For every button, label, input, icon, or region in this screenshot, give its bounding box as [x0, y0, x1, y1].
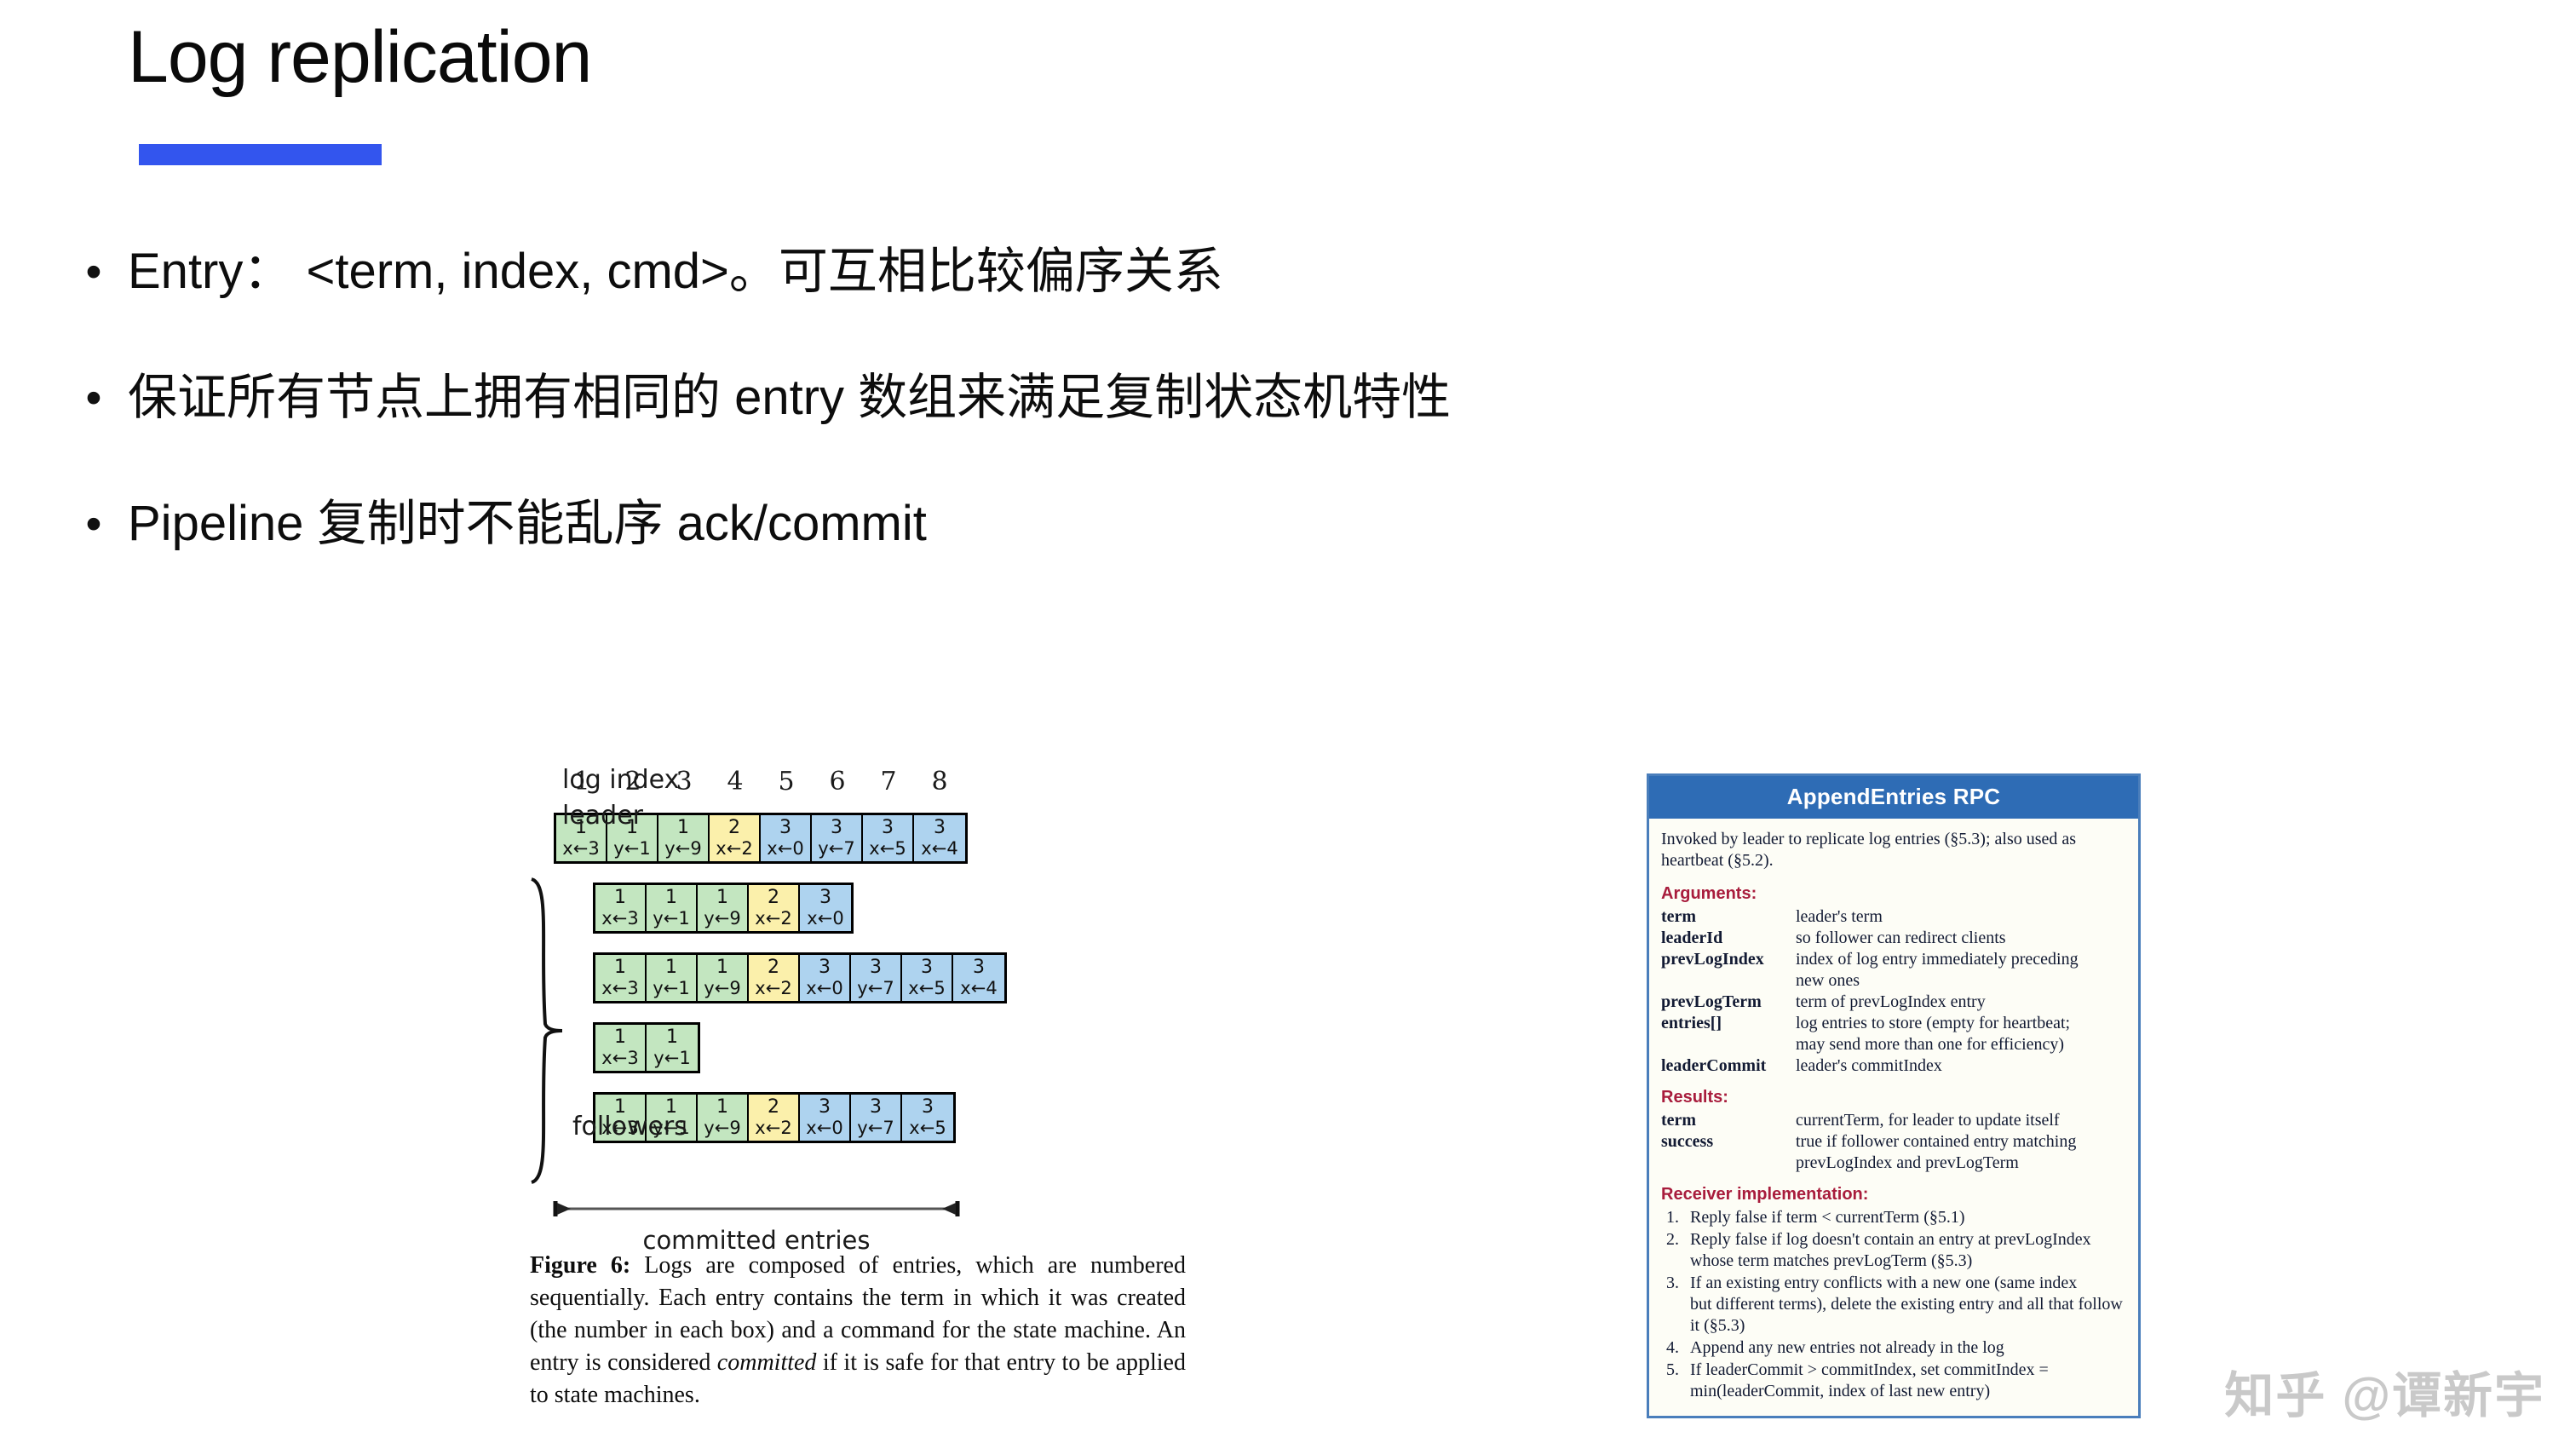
rpc-argument: entries[]log entries to store (empty for…: [1661, 1013, 2126, 1034]
log-entry-cell: 1y←1: [647, 1025, 698, 1071]
rpc-arguments-heading: Arguments:: [1661, 883, 2126, 905]
log-entry-command: x←0: [806, 1118, 842, 1138]
rpc-receiver-step: 4.Append any new entries not already in …: [1661, 1337, 2126, 1359]
log-index-number: 6: [819, 767, 855, 796]
rpc-receiver-step: 2.Reply false if log doesn't contain an …: [1661, 1229, 2126, 1251]
rpc-results-heading: Results:: [1661, 1087, 2126, 1108]
log-entry-cell: 1x←3: [595, 955, 647, 1001]
log-entry-command: y←1: [653, 908, 689, 929]
log-entry-command: y←1: [653, 1048, 690, 1068]
log-entry-cell: 3y←7: [851, 1095, 902, 1141]
rpc-argument-name: entries[]: [1661, 1013, 1796, 1034]
log-entry-command: y←7: [818, 838, 854, 859]
log-entry-command: x←4: [960, 978, 997, 998]
page-title: Log replication: [128, 15, 591, 100]
appendentries-rpc-card: AppendEntries RPC Invoked by leader to r…: [1647, 773, 2141, 1418]
log-entry-cell: 3x←5: [863, 815, 914, 861]
followers-label: followers: [572, 1112, 687, 1141]
log-entry-cell: 1y←1: [647, 955, 698, 1001]
bullet-marker-icon: •: [60, 365, 128, 431]
rpc-receiver-step-text: If an existing entry conflicts with a ne…: [1690, 1273, 2126, 1294]
rpc-argument: leaderIdso follower can redirect clients: [1661, 928, 2126, 949]
rpc-receiver-step-number: 3.: [1661, 1273, 1690, 1294]
rpc-result: successtrue if follower contained entry …: [1661, 1131, 2126, 1153]
log-entry-command: x←3: [601, 908, 638, 929]
log-entry-command: x←2: [755, 978, 791, 998]
log-entry-term: 2: [768, 888, 779, 908]
rpc-result-description-continued: prevLogIndex and prevLogTerm: [1796, 1153, 2126, 1174]
rpc-argument-name: leaderId: [1661, 928, 1796, 949]
rpc-argument-description: leader's commitIndex: [1796, 1055, 2126, 1077]
log-entry-term: 3: [819, 1097, 831, 1118]
log-entry-cell: 2x←2: [749, 955, 800, 1001]
rpc-receiver-list: 1.Reply false if term < currentTerm (§5.…: [1661, 1207, 2126, 1402]
log-entry-command: x←5: [908, 978, 945, 998]
rpc-argument: leaderCommitleader's commitIndex: [1661, 1055, 2126, 1077]
bullet-marker-icon: •: [60, 491, 128, 557]
log-entry-term: 3: [831, 818, 842, 838]
log-entry-term: 3: [921, 957, 933, 978]
rpc-card-title: AppendEntries RPC: [1649, 776, 2138, 819]
bullet-text: Pipeline 复制时不能乱序 ack/commit: [128, 491, 927, 557]
log-entry-command: x←5: [869, 838, 906, 859]
bullet-text: 保证所有节点上拥有相同的 entry 数组来满足复制状态机特性: [128, 365, 1451, 431]
rpc-card-body: Invoked by leader to replicate log entri…: [1649, 819, 2138, 1416]
log-row-follower: 1x←31y←1: [593, 1022, 700, 1073]
log-entry-command: y←7: [857, 978, 894, 998]
log-entry-cell: 1x←3: [595, 1025, 647, 1071]
rpc-receiver-step-number: 4.: [1661, 1337, 1690, 1359]
log-entry-term: 3: [973, 957, 985, 978]
log-index-number: 5: [768, 767, 804, 796]
rpc-receiver-step-text-continued: but different terms), delete the existin…: [1690, 1294, 2126, 1337]
log-entry-term: 3: [870, 957, 882, 978]
rpc-receiver-step: 5.If leaderCommit > commitIndex, set com…: [1661, 1360, 2126, 1381]
rpc-receiver-heading: Receiver implementation:: [1661, 1184, 2126, 1205]
rpc-intro-text: Invoked by leader to replicate log entri…: [1661, 829, 2126, 871]
log-entry-cell: 1y←9: [658, 815, 710, 861]
log-entry-cell: 2x←2: [749, 885, 800, 931]
log-entry-cell: 3x←5: [902, 955, 953, 1001]
log-entry-term: 1: [677, 818, 689, 838]
log-entry-cell: 3x←0: [800, 1095, 851, 1141]
log-entry-command: x←2: [755, 908, 791, 929]
leader-label: leader: [562, 801, 643, 831]
rpc-receiver-step: 3.If an existing entry conflicts with a …: [1661, 1273, 2126, 1294]
log-entry-command: y←9: [704, 908, 740, 929]
log-entry-term: 1: [665, 888, 677, 908]
log-entry-command: x←5: [909, 1118, 946, 1138]
log-entry-term: 1: [614, 1027, 626, 1048]
log-entry-command: y←9: [704, 1118, 740, 1138]
log-entry-term: 3: [819, 888, 831, 908]
committed-span-arrow-icon: [552, 1199, 961, 1218]
rpc-argument-description: leader's term: [1796, 906, 2126, 928]
rpc-arguments-list: termleader's termleaderIdso follower can…: [1661, 906, 2126, 1077]
log-entry-cell: 3y←7: [851, 955, 902, 1001]
rpc-receiver-step-text: Append any new entries not already in th…: [1690, 1337, 2126, 1359]
log-entry-cell: 1y←9: [698, 885, 749, 931]
bullet-item: •Pipeline 复制时不能乱序 ack/commit: [60, 491, 2360, 557]
log-entry-term: 1: [614, 957, 626, 978]
log-entry-cell: 2x←2: [749, 1095, 800, 1141]
log-entry-term: 2: [768, 957, 779, 978]
figure-caption-emphasis: committed: [717, 1349, 817, 1376]
log-entry-cell: 2x←2: [710, 815, 761, 861]
rpc-result: termcurrentTerm, for leader to update it…: [1661, 1110, 2126, 1131]
log-entry-term: 1: [716, 1097, 728, 1118]
log-entry-cell: 3y←7: [812, 815, 863, 861]
log-entry-command: y←9: [704, 978, 740, 998]
committed-entries-measure: committed entries: [552, 1199, 961, 1255]
rpc-receiver-step-text: If leaderCommit > commitIndex, set commi…: [1690, 1360, 2126, 1381]
rpc-argument: termleader's term: [1661, 906, 2126, 928]
log-entry-command: x←2: [716, 838, 752, 859]
log-entry-command: y←7: [857, 1118, 894, 1138]
rpc-argument-name: prevLogIndex: [1661, 949, 1796, 970]
watermark: 知乎 @谭新宇: [2224, 1355, 2545, 1427]
followers-brace-icon: [528, 877, 566, 1184]
log-entry-cell: 1x←3: [595, 885, 647, 931]
log-entry-term: 3: [870, 1097, 882, 1118]
log-entry-term: 1: [716, 888, 728, 908]
log-entry-term: 1: [665, 957, 677, 978]
rpc-receiver-step-text-continued: whose term matches prevLogTerm (§5.3): [1690, 1251, 2126, 1272]
log-entry-command: y←1: [653, 978, 689, 998]
bullet-list: •Entry： <term, index, cmd>。可互相比较偏序关系•保证所…: [60, 239, 2360, 617]
rpc-argument-description-continued: new ones: [1796, 970, 2126, 992]
log-entry-cell: 3x←0: [800, 955, 851, 1001]
log-index-number: 4: [717, 767, 753, 796]
rpc-receiver-step-text: Reply false if term < currentTerm (§5.1): [1690, 1207, 2126, 1228]
log-entry-command: x←0: [767, 838, 803, 859]
rpc-argument-description: so follower can redirect clients: [1796, 928, 2126, 949]
log-entry-command: y←1: [613, 838, 650, 859]
rpc-result-description: currentTerm, for leader to update itself: [1796, 1110, 2126, 1131]
log-rows: 1x←31y←11y←92x←23x←03y←73x←53x←41x←31y←1…: [528, 813, 1210, 1143]
log-entry-term: 1: [716, 957, 728, 978]
rpc-argument-name: leaderCommit: [1661, 1055, 1796, 1077]
rpc-receiver-step-number: 5.: [1661, 1360, 1690, 1381]
log-entry-term: 1: [666, 1027, 678, 1048]
log-entry-command: x←0: [807, 908, 843, 929]
rpc-argument-description: term of prevLogIndex entry: [1796, 992, 2126, 1013]
rpc-argument-name: prevLogTerm: [1661, 992, 1796, 1013]
rpc-result-name: success: [1661, 1131, 1796, 1153]
log-entry-command: x←3: [601, 978, 638, 998]
log-entry-cell: 3x←0: [761, 815, 812, 861]
log-entry-term: 3: [882, 818, 894, 838]
log-entry-term: 3: [934, 818, 946, 838]
log-entry-cell: 1y←1: [647, 885, 698, 931]
rpc-receiver-step-number: 2.: [1661, 1229, 1690, 1251]
rpc-argument: prevLogTermterm of prevLogIndex entry: [1661, 992, 2126, 1013]
rpc-result-name: term: [1661, 1110, 1796, 1131]
log-entry-term: 3: [779, 818, 791, 838]
log-row-follower: 1x←31y←11y←92x←23x←0: [593, 883, 854, 934]
log-entry-command: y←9: [664, 838, 701, 859]
bullet-marker-icon: •: [60, 239, 128, 305]
log-entry-term: 3: [819, 957, 831, 978]
log-entry-cell: 3x←4: [914, 815, 965, 861]
rpc-argument-description: log entries to store (empty for heartbea…: [1796, 1013, 2126, 1034]
figure-caption: Figure 6: Logs are composed of entries, …: [530, 1250, 1186, 1412]
rpc-results-list: termcurrentTerm, for leader to update it…: [1661, 1110, 2126, 1174]
log-index-label: log index: [562, 765, 679, 795]
rpc-result-description: true if follower contained entry matchin…: [1796, 1131, 2126, 1153]
log-entry-command: x←3: [601, 1048, 638, 1068]
log-entry-term: 2: [768, 1097, 779, 1118]
figure-caption-label: Figure 6:: [530, 1252, 630, 1279]
log-entry-term: 1: [614, 888, 626, 908]
log-index-number: 7: [871, 767, 906, 796]
rpc-receiver-step-number: 1.: [1661, 1207, 1690, 1228]
bullet-item: •保证所有节点上拥有相同的 entry 数组来满足复制状态机特性: [60, 365, 2360, 431]
bullet-item: •Entry： <term, index, cmd>。可互相比较偏序关系: [60, 239, 2360, 305]
rpc-argument: prevLogIndexindex of log entry immediate…: [1661, 949, 2126, 970]
rpc-argument-name: term: [1661, 906, 1796, 928]
log-entry-cell: 1y←9: [698, 1095, 749, 1141]
rpc-receiver-step-text-continued: min(leaderCommit, index of last new entr…: [1690, 1381, 2126, 1402]
log-entry-command: x←0: [806, 978, 842, 998]
rpc-receiver-step: 1.Reply false if term < currentTerm (§5.…: [1661, 1207, 2126, 1228]
title-accent-bar: [139, 144, 382, 165]
rpc-argument-description-continued: may send more than one for efficiency): [1796, 1034, 2126, 1055]
log-entry-term: 2: [728, 818, 740, 838]
log-row-follower: 1x←31y←11y←92x←23x←03y←73x←53x←4: [593, 952, 1007, 1003]
log-entry-command: x←2: [755, 1118, 791, 1138]
log-entry-command: x←4: [921, 838, 957, 859]
rpc-argument-description: index of log entry immediately preceding: [1796, 949, 2126, 970]
log-entry-cell: 1y←9: [698, 955, 749, 1001]
rpc-receiver-step-text: Reply false if log doesn't contain an en…: [1690, 1229, 2126, 1251]
log-entry-command: x←3: [562, 838, 599, 859]
bullet-text: Entry： <term, index, cmd>。可互相比较偏序关系: [128, 239, 1223, 305]
log-entry-term: 3: [922, 1097, 934, 1118]
log-entry-cell: 3x←4: [953, 955, 1004, 1001]
log-entry-cell: 3x←0: [800, 885, 851, 931]
log-entry-cell: 3x←5: [902, 1095, 953, 1141]
log-index-number: 8: [922, 767, 957, 796]
